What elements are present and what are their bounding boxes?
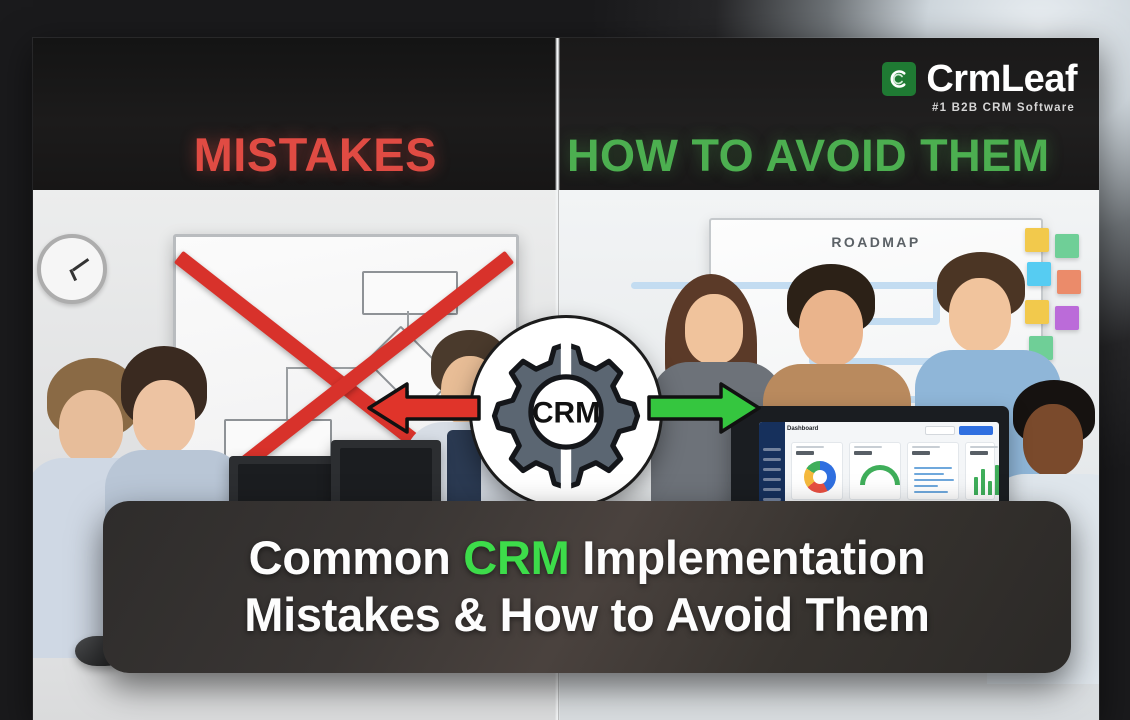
center-graphic: CRM — [33, 318, 1099, 518]
brand-tagline: #1 B2B CRM Software — [882, 102, 1075, 114]
banner-line-1: Common CRM Implementation — [249, 532, 926, 585]
banner-crm-highlight: CRM — [463, 531, 569, 584]
avoid-heading: HOW TO AVOID THEM — [567, 133, 1050, 178]
crm-gear-badge: CRM — [472, 318, 660, 506]
mistakes-header-band: MISTAKES — [33, 38, 557, 190]
mistakes-heading: MISTAKES — [194, 131, 437, 178]
poster-canvas: MISTAKES ROADMAP — [0, 0, 1130, 720]
banner-line1-post: Implementation — [569, 531, 925, 584]
crm-badge-text: CRM — [532, 396, 600, 429]
roadmap-label: ROADMAP — [711, 234, 1041, 250]
red-left-arrow-icon — [365, 380, 483, 436]
crmleaf-c-icon — [882, 62, 916, 96]
poster-inner-frame: MISTAKES ROADMAP — [33, 38, 1099, 720]
banner-line-2: Mistakes & How to Avoid Them — [244, 589, 929, 642]
banner-line1-pre: Common — [249, 531, 464, 584]
brand-logo[interactable]: CrmLeaf #1 B2B CRM Software — [882, 60, 1077, 114]
split-gear-icon: CRM — [488, 334, 644, 490]
title-banner: Common CRM Implementation Mistakes & How… — [103, 501, 1071, 673]
brand-name: CrmLeaf — [926, 60, 1077, 98]
wall-clock-icon — [37, 234, 107, 304]
green-right-arrow-icon — [645, 380, 763, 436]
